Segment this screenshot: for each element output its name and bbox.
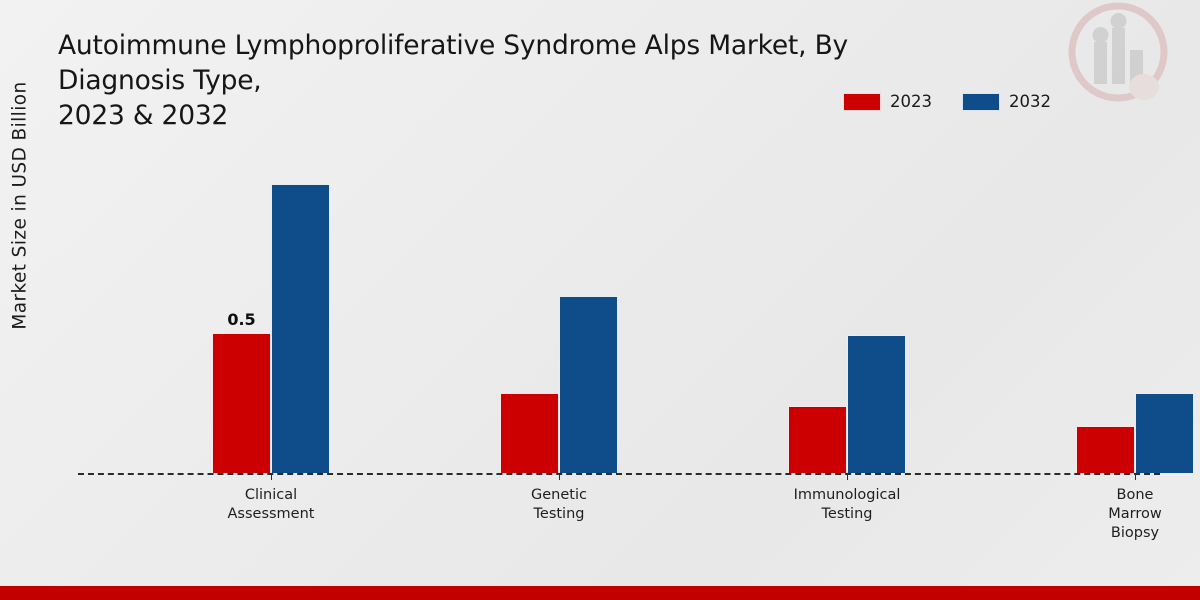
y-axis-title: Market Size in USD Billion bbox=[10, 36, 31, 376]
legend-swatch-2023 bbox=[843, 93, 881, 111]
legend-label-2023: 2023 bbox=[890, 92, 932, 111]
bar-2032[interactable] bbox=[1135, 393, 1194, 473]
page-title: Autoimmune Lymphoproliferative Syndrome … bbox=[58, 28, 958, 134]
x-axis-tick bbox=[559, 473, 560, 480]
legend-item-2023[interactable]: 2023 bbox=[843, 92, 932, 111]
legend-item-2032[interactable]: 2032 bbox=[962, 92, 1051, 111]
bar-2023[interactable] bbox=[1076, 426, 1135, 473]
x-axis-tick bbox=[1135, 473, 1136, 480]
x-axis-category-label: Genetic Testing bbox=[459, 486, 659, 524]
chart-page: Autoimmune Lymphoproliferative Syndrome … bbox=[0, 0, 1200, 600]
x-axis-category-label: Bone Marrow Biopsy bbox=[1035, 486, 1200, 543]
bar-group bbox=[78, 150, 1160, 473]
bar-pair bbox=[1076, 393, 1194, 473]
x-axis-category-label: Clinical Assessment bbox=[171, 486, 371, 524]
legend-swatch-2032 bbox=[962, 93, 1000, 111]
x-axis-tick bbox=[271, 473, 272, 480]
plot-area: 0.5 Clinical AssessmentGenetic TestingIm… bbox=[78, 150, 1160, 475]
x-axis-tick bbox=[847, 473, 848, 480]
x-axis-baseline bbox=[78, 473, 1160, 475]
legend: 2023 2032 bbox=[843, 92, 1051, 111]
legend-label-2032: 2032 bbox=[1009, 92, 1051, 111]
watermark-logo-icon bbox=[1058, 0, 1178, 114]
x-axis-category-label: Immunological Testing bbox=[747, 486, 947, 524]
bottom-accent-strip bbox=[0, 586, 1200, 600]
